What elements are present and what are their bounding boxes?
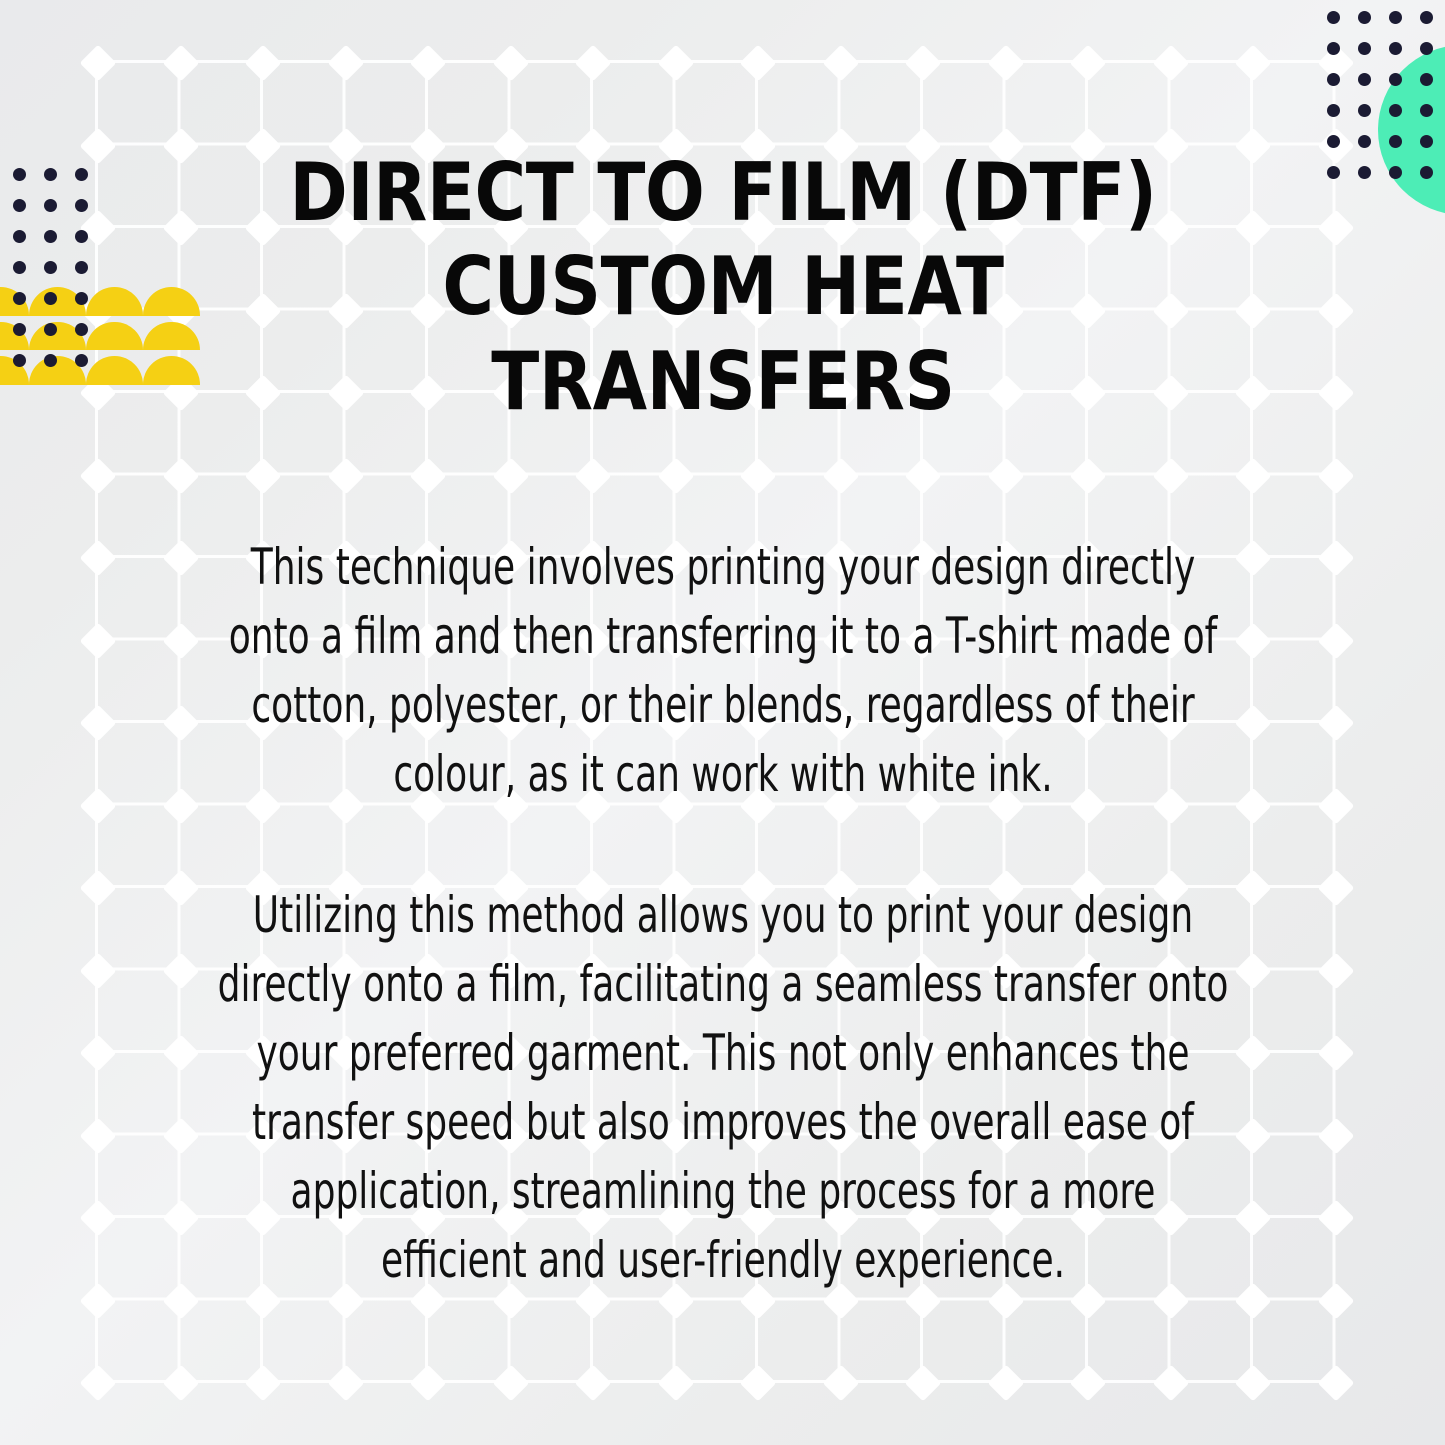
title-line-1: DIRECT TO FILM (DTF)	[289, 146, 1156, 239]
poster-content: DIRECT TO FILM (DTF) CUSTOM HEAT TRANSFE…	[0, 0, 1445, 1445]
body-paragraph-1: This technique involves printing your de…	[215, 533, 1231, 809]
title-line-2: CUSTOM HEAT TRANSFERS	[442, 240, 1003, 427]
poster-canvas: DIRECT TO FILM (DTF) CUSTOM HEAT TRANSFE…	[0, 0, 1445, 1445]
page-title: DIRECT TO FILM (DTF) CUSTOM HEAT TRANSFE…	[283, 146, 1163, 429]
body-paragraph-2: Utilizing this method allows you to prin…	[215, 881, 1231, 1295]
